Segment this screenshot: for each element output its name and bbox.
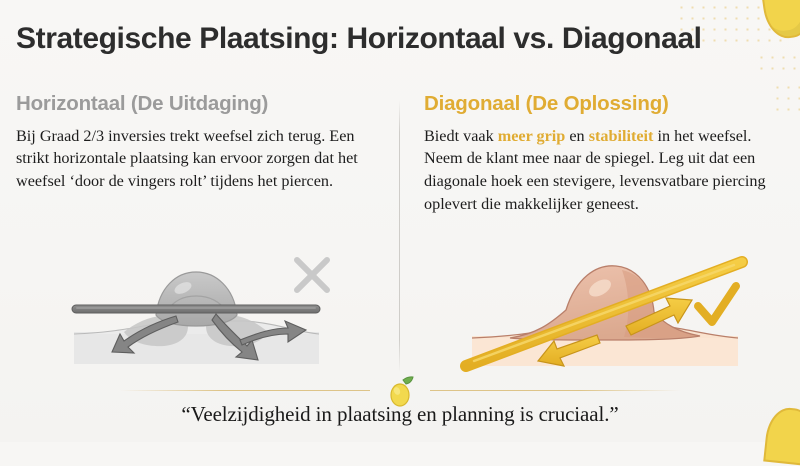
slide-root: Strategische Plaatsing: Horizontaal vs. … <box>0 0 800 442</box>
footer-quote-block: “Veelzijdigheid in plaatsing en planning… <box>0 372 800 438</box>
column-diagonal: Diagonaal (De Oplossing) Biedt vaak meer… <box>424 92 782 215</box>
column-divider <box>399 100 400 372</box>
body-text-segment: en <box>565 127 588 145</box>
highlight-meer-grip: meer grip <box>498 127 566 145</box>
footer-quote-text: “Veelzijdigheid in plaatsing en planning… <box>0 402 800 427</box>
divider-rule-right <box>430 390 680 391</box>
diagonal-placement-diagram <box>424 248 782 372</box>
column-body-diagonal: Biedt vaak meer grip en stabiliteit in h… <box>424 125 782 216</box>
divider-rule-left <box>120 390 370 391</box>
column-body-horizontal: Bij Graad 2/3 inversies trekt weefsel zi… <box>16 125 376 193</box>
horizontal-bar-icon <box>72 305 320 313</box>
highlight-stabiliteit: stabiliteit <box>589 127 654 145</box>
cross-icon <box>297 260 327 290</box>
body-text-segment: Biedt vaak <box>424 127 498 145</box>
column-heading-horizontal: Horizontaal (De Uitdaging) <box>16 92 376 117</box>
page-title: Strategische Plaatsing: Horizontaal vs. … <box>16 22 776 57</box>
column-horizontal: Horizontaal (De Uitdaging) Bij Graad 2/3… <box>16 92 376 193</box>
check-icon <box>698 286 736 322</box>
horizontal-placement-diagram <box>16 252 376 370</box>
column-heading-diagonal: Diagonaal (De Oplossing) <box>424 92 782 117</box>
